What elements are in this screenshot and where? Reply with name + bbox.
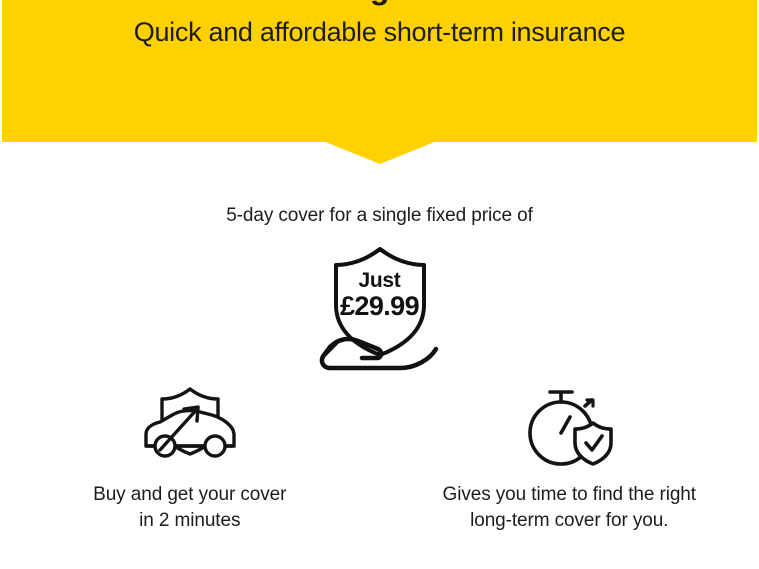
feature-item-time-to-find: Gives you time to find the right long-te… <box>399 382 739 534</box>
banner-subheadline: Quick and affordable short-term insuranc… <box>134 16 625 48</box>
feature-icon-wrapper <box>509 382 629 468</box>
car-shield-arrow-icon <box>134 384 246 466</box>
price-lead-text: 5-day cover for a single fixed price of <box>226 205 533 227</box>
feature-icon-wrapper <box>130 382 250 468</box>
feature-list: Buy and get your cover in 2 minutes <box>0 382 759 534</box>
clipped-headline: g <box>2 0 757 10</box>
price-badge: Just £29.99 <box>300 243 460 375</box>
banner-content: g Quick and affordable short-term insura… <box>2 0 757 142</box>
promo-card: g Quick and affordable short-term insura… <box>0 0 759 569</box>
feature-item-buy-fast: Buy and get your cover in 2 minutes <box>20 382 360 534</box>
feature-caption: Buy and get your cover in 2 minutes <box>93 482 286 534</box>
yellow-banner: g Quick and affordable short-term insura… <box>2 0 757 142</box>
clipped-headline-text: g <box>370 0 389 7</box>
price-section: 5-day cover for a single fixed price of … <box>0 205 759 375</box>
banner-notch-arrow <box>323 141 437 164</box>
feature-caption: Gives you time to find the right long-te… <box>443 482 696 534</box>
shield-in-hand-icon <box>300 243 460 375</box>
stopwatch-shield-check-icon <box>517 381 621 469</box>
